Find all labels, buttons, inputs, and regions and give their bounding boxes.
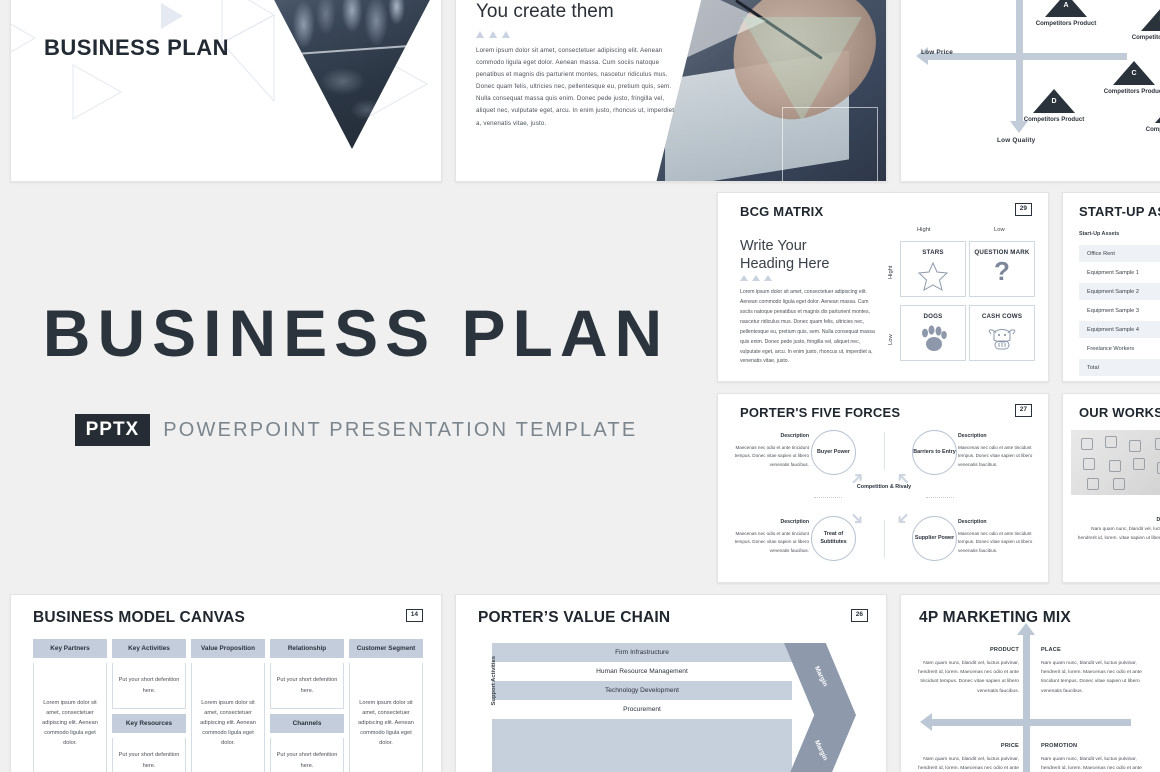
slide-startup-assets[interactable]: START-UP ASSETS Start-Up Assets Office R… [1062,192,1160,382]
slide-4p-marketing-mix[interactable]: 4P MARKETING MIX PRODUCT Nam quam nunc, … [900,594,1160,772]
divider [926,497,954,498]
description-text: Maecenas nec odio et ante tincidunt temp… [958,445,1032,467]
competitor-marker-e: E Competitors Product [1141,99,1160,134]
table-row[interactable]: Equipment Sample 3 [1079,302,1160,319]
support-row[interactable]: Procurement [492,700,792,719]
hero-block: BUSINESS PLAN PPTX POWERPOINT PRESENTATI… [0,300,712,446]
client-label: Client [1071,498,1160,508]
works-caption: Client Aqua Description Nam quam nunc, b… [1071,498,1160,553]
description-label: Description [1071,516,1160,526]
cover-title: BUSINESS PLAN [44,35,229,61]
bcg-body-text: Lorem ipsum dolor sit amet, consectetuer… [740,288,878,367]
slide-cover[interactable]: BUSINESS PLAN [10,0,442,182]
slide-quote[interactable]: don't happen. You create them Lorem ipsu… [455,0,887,182]
bmc-column-header: Key Activities [112,639,186,658]
bmc-cell[interactable]: Lorem ipsum dolor sit amet, consectetuer… [33,663,107,772]
bmc-column-header: Key Partners [33,639,107,658]
force-description-buyer-power: Description Maecenas nec odio et ante ti… [723,432,809,469]
description-text: Nam quam nunc, blandit vel, luctus pulvi… [1078,527,1160,550]
horizontal-axis-arrow-icon [927,53,1127,60]
table-row[interactable]: Equipment Sample 2 [1079,283,1160,300]
arrow-down-right-icon: ➜ [892,507,914,529]
support-row[interactable]: Human Resource Management [492,662,792,681]
preview-canvas: BUSINESS PLAN don't happen. You create t… [0,0,1160,772]
bcg-cell-label: STARS [922,249,944,256]
star-icon [917,261,949,296]
force-description-supplier-power: Description Maecenas nec odio et ante ti… [958,518,1044,555]
cow-icon [985,325,1019,358]
horizontal-axis-arrow-icon [931,719,1131,726]
divider [884,432,885,470]
table-row[interactable]: Equipment Sample 4 [1079,321,1160,338]
force-description-threat-of-substitutes: Description Maecenas nec odio et ante ti… [723,518,809,555]
bcg-heading-line2: Heading Here [740,255,829,273]
quadrant-text: Nam quam nunc, blandit vel, luctus pulvi… [918,661,1019,694]
bmc-column-header: Channels [270,714,344,733]
decor-triangle-icon [71,63,123,121]
slide-business-model-canvas[interactable]: BUSINESS MODEL CANVAS 14 Key Partners Lo… [10,594,442,772]
bcg-cell-stars[interactable]: STARS [900,241,966,297]
competitor-caption: Competitors Product [1127,34,1160,42]
bmc-cell[interactable]: Put your short defenition here. [270,738,344,772]
triangle-marker-icon: C [1113,61,1155,85]
bcg-cell-cash-cows[interactable]: CASH COWS [969,305,1035,361]
quadrant-product: PRODUCT Nam quam nunc, blandit vel, luct… [915,645,1019,696]
competitor-marker-d: D Competitors Product [1019,89,1089,124]
axis-label-low-price: Low Price [921,49,953,56]
value-chain-diagram: Support Activities Firm Infrastructure H… [492,643,872,772]
table-row[interactable]: Freelance Workers [1079,340,1160,357]
slide-title: START-UP ASSETS [1079,204,1160,219]
quadrant-label: PROMOTION [1041,741,1145,752]
description-label: Description [958,518,1044,528]
question-mark-icon: ? [994,256,1010,287]
divider [814,497,842,498]
bcg-row-label-low: Low [888,334,894,345]
startup-table-caption: Start-Up Assets [1079,231,1119,237]
description-label: Description [958,432,1044,442]
slide-title: PORTER'S FIVE FORCES [740,405,900,420]
competitor-caption: Competitors Product [1141,126,1160,134]
bmc-grid: Key Partners Lorem ipsum dolor sit amet,… [33,639,423,772]
force-circle-supplier-power[interactable]: Supplier Power [912,516,957,561]
competitor-caption: Competitors Product [1099,88,1160,96]
quadrant-text: Nam quam nunc, blandit vel, luctus pulvi… [1041,661,1142,694]
triangle-dots-icon [740,275,772,281]
description-text: Maecenas nec odio et ante tincidunt temp… [958,531,1032,553]
slide-porters-five-forces[interactable]: PORTER'S FIVE FORCES 27 Buyer Power Barr… [717,393,1049,583]
quadrant-price: PRICE Nam quam nunc, blandit vel, luctus… [915,741,1019,772]
primary-activities-row: Inbound Logistics Operations Outbound Lo… [492,719,792,772]
bmc-column-customer-segment: Customer Segment Lorem ipsum dolor sit a… [349,639,423,772]
table-row[interactable]: Office Rent [1079,245,1160,262]
bcg-cell-label: DOGS [923,313,942,320]
slide-bcg-matrix[interactable]: BCG MATRIX 29 Write Your Heading Here Lo… [717,192,1049,382]
bcg-cell-question-mark[interactable]: QUESTION MARK ? [969,241,1035,297]
description-text: Maecenas nec odio et ante tincidunt temp… [735,445,809,467]
bmc-cell[interactable]: Put your short defenition here. [112,738,186,772]
bmc-column-header: Customer Segment [349,639,423,658]
triangle-marker-icon: D [1033,89,1075,113]
bcg-col-label-hight: Hight [917,227,931,233]
bmc-column-key-partners: Key Partners Lorem ipsum dolor sit amet,… [33,639,107,772]
description-label: Description [723,432,809,442]
quadrant-place: PLACE Nam quam nunc, blandit vel, luctus… [1041,645,1145,696]
slide-number-badge: 26 [851,609,868,622]
force-description-barriers-to-entry: Description Maecenas nec odio et ante ti… [958,432,1044,469]
quadrant-label: PRICE [915,741,1019,752]
force-circle-buyer-power[interactable]: Buyer Power [811,430,856,475]
bcg-col-label-low: Low [994,227,1005,233]
description-label: Description [723,518,809,528]
margin-arrow: Margin Margin [784,643,856,772]
bmc-cell[interactable]: Put your short defenition here. [112,663,186,709]
slide-title: 4P MARKETING MIX [919,609,1071,627]
hero-subtitle: POWERPOINT PRESENTATION TEMPLATE [163,419,637,442]
axis-label-low-quality: Low Quality [997,137,1035,144]
decor-triangle-icon [10,13,37,63]
bmc-column-relationship: Relationship Put your short defenition h… [270,639,344,772]
decor-triangle-filled-icon [159,1,185,31]
slide-porters-value-chain[interactable]: PORTER’S VALUE CHAIN 26 Support Activiti… [455,594,887,772]
slide-title: BCG MATRIX [740,204,823,219]
divider [884,520,885,558]
slide-number-badge: 27 [1015,404,1032,417]
competitor-marker-b: B Competitors Product [1127,7,1160,42]
slide-our-works[interactable]: OUR WORKS Client Aqua Description Nam qu… [1062,393,1160,583]
bcg-heading-line1: Write Your [740,237,829,255]
description-text: Maecenas nec odio et ante tincidunt temp… [735,531,809,553]
quote-heading: don't happen. You create them [476,0,614,24]
bcg-row-label-hight: Hight [888,265,894,279]
triangle-marker-icon: B [1141,7,1160,31]
bmc-cell[interactable]: Lorem ipsum dolor sit amet, consectetuer… [191,663,265,772]
bmc-column-header: Value Proposition [191,639,265,658]
pptx-badge: PPTX [75,414,151,446]
quote-heading-line2: You create them [476,1,614,23]
quadrant-text: Nam quam nunc, blandit vel, luctus pulvi… [918,757,1019,772]
slide-title: PORTER’S VALUE CHAIN [478,609,670,627]
slide-competitor-matrix[interactable]: Low Price Low Quality A Competitors Prod… [900,0,1160,182]
bmc-column-value-proposition: Value Proposition Lorem ipsum dolor sit … [191,639,265,772]
slide-number-badge: 14 [406,609,423,622]
bcg-cell-label: QUESTION MARK [974,249,1029,256]
support-activities-label: Support Activities [491,656,499,706]
competitor-marker-a: A Competitors Product [1031,0,1101,28]
quote-body: Lorem ipsum dolor sit amet, consectetuer… [476,45,676,130]
bmc-column-header: Relationship [270,639,344,658]
margin-label-top: Margin [813,665,829,688]
triangle-marker-icon: E [1155,99,1160,123]
triangle-dots-icon [476,31,510,38]
triangle-marker-icon: A [1045,0,1087,17]
decor-triangle-outline-icon [782,107,878,182]
hero-subtitle-row: PPTX POWERPOINT PRESENTATION TEMPLATE [0,414,712,446]
bmc-column-header: Key Resources [112,714,186,733]
margin-label-bottom: Margin [813,739,829,762]
slide-title: BUSINESS MODEL CANVAS [33,609,245,627]
competitor-caption: Competitors Product [1019,116,1089,124]
table-row[interactable]: Equipment Sample 1 [1079,264,1160,281]
force-circle-barriers-to-entry[interactable]: Barriers to Entry [912,430,957,475]
support-row[interactable]: Firm Infrastructure [492,643,792,662]
competitor-caption: Competitors Product [1031,20,1101,28]
bmc-cell[interactable]: Put your short defenition here. [270,663,344,709]
bcg-heading: Write Your Heading Here [740,237,829,273]
bmc-column-key-activities: Key Activities Put your short defenition… [112,639,186,772]
page-title: BUSINESS PLAN [0,300,712,366]
quadrant-label: PLACE [1041,645,1145,656]
quadrant-label: PRODUCT [915,645,1019,656]
quadrant-text: Nam quam nunc, blandit vel, luctus pulvi… [1041,757,1142,772]
quadrant-promotion: PROMOTION Nam quam nunc, blandit vel, lu… [1041,741,1145,772]
table-row[interactable]: Total [1079,359,1160,376]
bcg-cell-label: CASH COWS [982,313,1022,320]
slide-number-badge: 29 [1015,203,1032,216]
bcg-cell-dogs[interactable]: DOGS [900,305,966,361]
support-row[interactable]: Technology Development [492,681,792,700]
paw-print-icon [918,325,948,358]
competitor-marker-c: C Competitors Product [1099,61,1160,96]
works-photo [1071,430,1160,495]
vertical-axis-arrow-icon [1023,633,1030,772]
center-label-competition-rivalry: Competition & Rivaly [853,484,915,491]
slide-title: OUR WORKS [1079,405,1160,420]
bmc-cell[interactable]: Lorem ipsum dolor sit amet, consectetuer… [349,663,423,772]
